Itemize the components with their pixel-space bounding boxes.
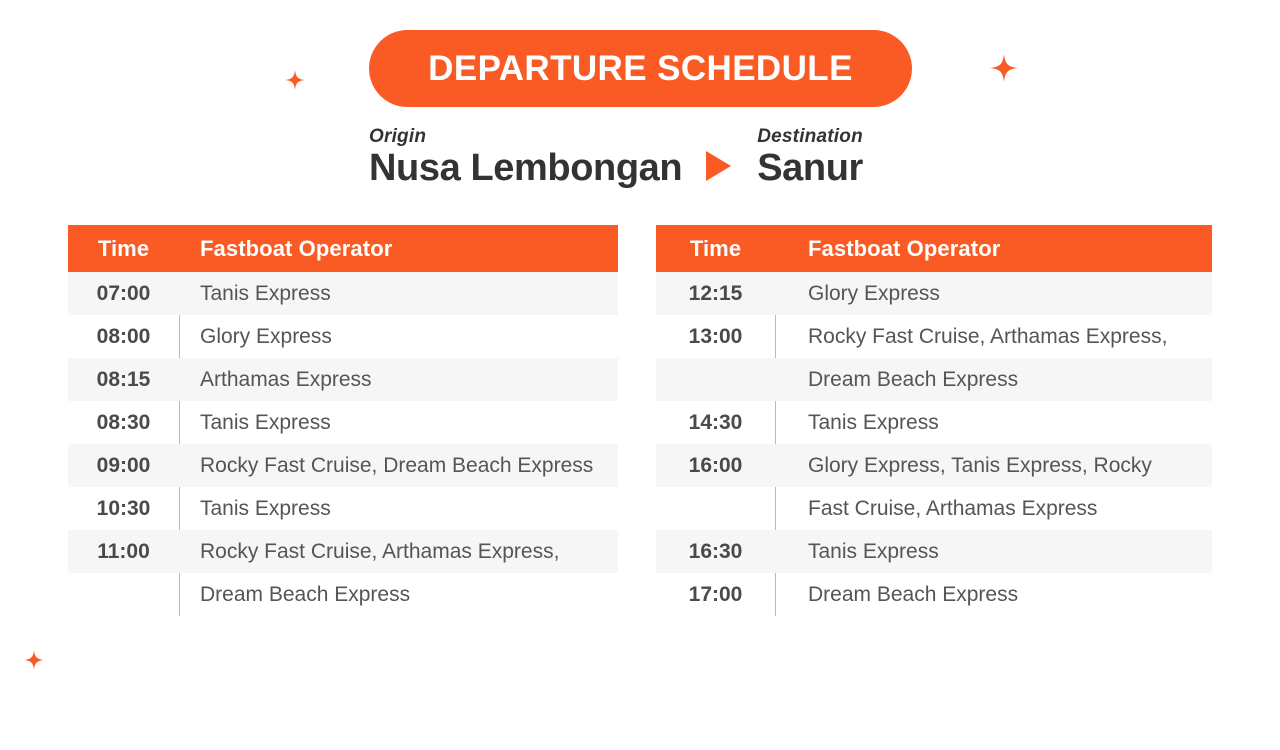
table-row: 08:15Arthamas Express	[68, 358, 618, 401]
cell-departure-time: 16:30	[656, 540, 775, 564]
table-header-row: Time Fastboat Operator	[68, 225, 618, 272]
table-row: 11:00Rocky Fast Cruise, Arthamas Express…	[68, 530, 618, 573]
cell-departure-time: 14:30	[656, 411, 775, 435]
cell-departure-time: 17:00	[656, 583, 775, 607]
table-row: Dream Beach Express	[68, 573, 618, 616]
route-summary: Origin Nusa Lembongan Destination Sanur	[0, 126, 1280, 204]
cell-fastboat-operator: Glory Express, Tanis Express, Rocky	[775, 454, 1152, 478]
cell-fastboat-operator: Dream Beach Express	[775, 583, 1018, 607]
origin-name: Nusa Lembongan	[369, 149, 682, 189]
table-body: 12:15Glory Express13:00Rocky Fast Cruise…	[656, 272, 1212, 616]
table-row: 16:30Tanis Express	[656, 530, 1212, 573]
cell-fastboat-operator: Tanis Express	[179, 282, 331, 306]
cell-departure-time: 08:15	[68, 368, 179, 392]
four-point-star-icon	[24, 650, 44, 670]
table-header-row: Time Fastboat Operator	[656, 225, 1212, 272]
cell-departure-time: 07:00	[68, 282, 179, 306]
cell-departure-time: 08:00	[68, 325, 179, 349]
cell-departure-time: 12:15	[656, 282, 775, 306]
table-body: 07:00Tanis Express08:00Glory Express08:1…	[68, 272, 618, 616]
cell-fastboat-operator: Fast Cruise, Arthamas Express	[775, 497, 1097, 521]
cell-fastboat-operator: Rocky Fast Cruise, Arthamas Express,	[179, 540, 559, 564]
page-title: DEPARTURE SCHEDULE	[428, 49, 853, 89]
table-row: 07:00Tanis Express	[68, 272, 618, 315]
cell-fastboat-operator: Glory Express	[179, 325, 332, 349]
cell-fastboat-operator: Arthamas Express	[179, 368, 372, 392]
cell-departure-time: 10:30	[68, 497, 179, 521]
table-row: 14:30Tanis Express	[656, 401, 1212, 444]
origin-label: Origin	[369, 126, 682, 148]
column-header-time: Time	[656, 236, 775, 262]
destination-name: Sanur	[757, 149, 863, 189]
cell-departure-time: 09:00	[68, 454, 179, 478]
table-row: 17:00Dream Beach Express	[656, 573, 1212, 616]
schedule-table-morning: Time Fastboat Operator 07:00Tanis Expres…	[68, 225, 618, 616]
column-header-operator: Fastboat Operator	[179, 236, 392, 262]
cell-departure-time: 11:00	[68, 540, 179, 564]
cell-fastboat-operator: Tanis Express	[775, 411, 939, 435]
column-header-operator: Fastboat Operator	[775, 236, 1000, 262]
table-row: 10:30Tanis Express	[68, 487, 618, 530]
departure-schedule-page: { "theme": { "accent": "#fa5a23", "accen…	[0, 0, 1280, 750]
page-title-banner: DEPARTURE SCHEDULE	[369, 30, 912, 107]
cell-departure-time: 13:00	[656, 325, 775, 349]
table-row: 09:00Rocky Fast Cruise, Dream Beach Expr…	[68, 444, 618, 487]
table-row: 16:00Glory Express, Tanis Express, Rocky	[656, 444, 1212, 487]
cell-departure-time: 16:00	[656, 454, 775, 478]
table-row: 08:00Glory Express	[68, 315, 618, 358]
table-row: Fast Cruise, Arthamas Express	[656, 487, 1212, 530]
table-row: 08:30Tanis Express	[68, 401, 618, 444]
table-row: 12:15Glory Express	[656, 272, 1212, 315]
cell-fastboat-operator: Rocky Fast Cruise, Dream Beach Express	[179, 454, 593, 478]
cell-fastboat-operator: Rocky Fast Cruise, Arthamas Express,	[775, 325, 1167, 349]
destination-label: Destination	[757, 126, 863, 148]
cell-fastboat-operator: Glory Express	[775, 282, 940, 306]
schedule-table-afternoon: Time Fastboat Operator 12:15Glory Expres…	[656, 225, 1212, 616]
cell-fastboat-operator: Tanis Express	[179, 411, 331, 435]
triangle-right-icon	[706, 151, 731, 181]
cell-fastboat-operator: Dream Beach Express	[179, 583, 410, 607]
origin-block: Origin Nusa Lembongan	[369, 126, 682, 189]
destination-block: Destination Sanur	[757, 126, 863, 189]
table-row: 13:00Rocky Fast Cruise, Arthamas Express…	[656, 315, 1212, 358]
cell-fastboat-operator: Tanis Express	[179, 497, 331, 521]
four-point-star-icon	[285, 70, 305, 90]
cell-departure-time: 08:30	[68, 411, 179, 435]
cell-fastboat-operator: Dream Beach Express	[775, 368, 1018, 392]
four-point-star-icon	[990, 54, 1018, 82]
column-header-time: Time	[68, 236, 179, 262]
table-row: Dream Beach Express	[656, 358, 1212, 401]
cell-fastboat-operator: Tanis Express	[775, 540, 939, 564]
